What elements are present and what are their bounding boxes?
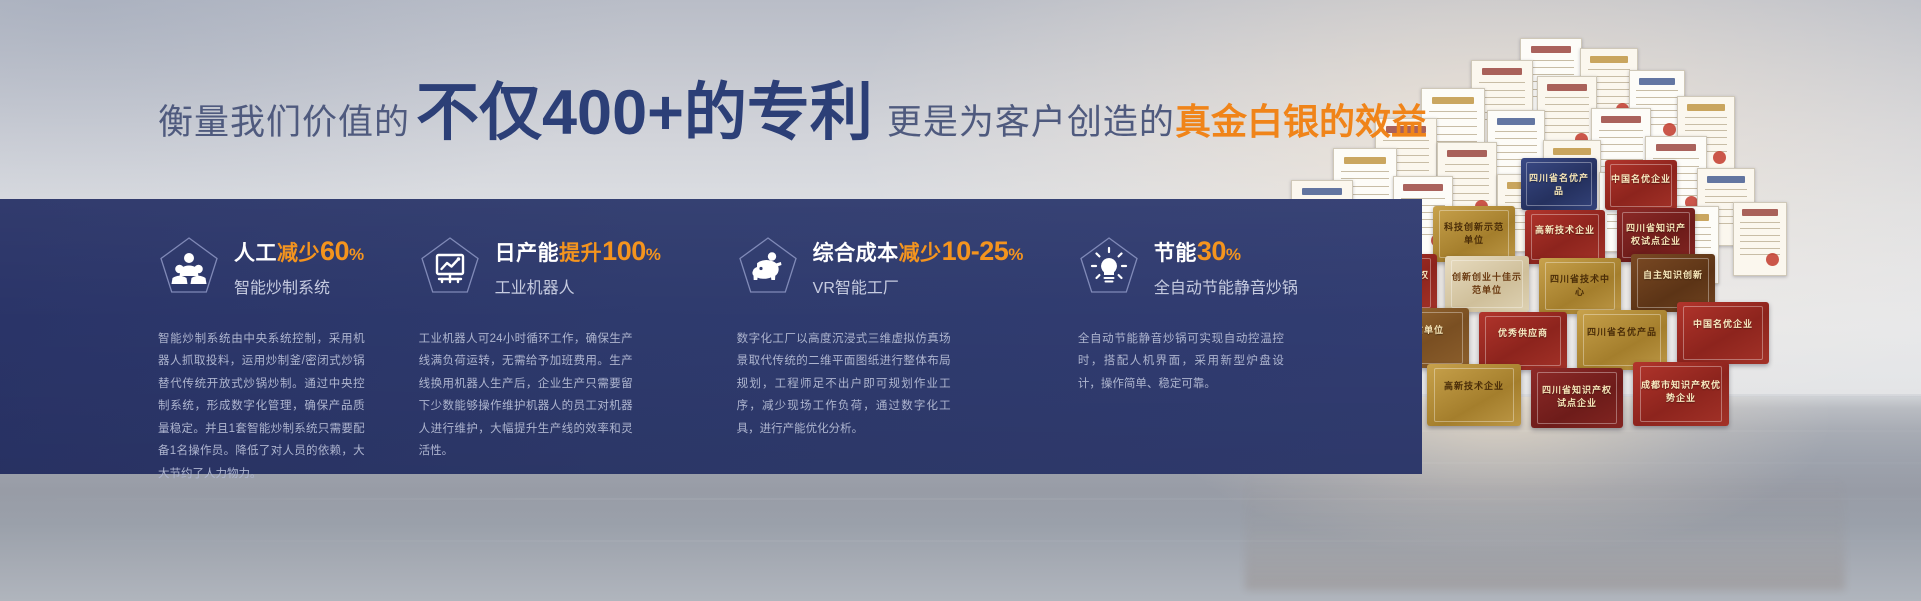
feature-title: 人工减少60% (234, 237, 365, 267)
feature-item: 综合成本减少10-25% VR智能工厂 数字化工厂以高度沉浸式三维虚拟仿真场景取… (709, 199, 1050, 474)
page-title: 衡量我们价值的 不仅400+的专利 更是为客户创造的 真金白银的效益 (158, 82, 1427, 145)
plaque-label: 成都市知识产权优势企业 (1641, 379, 1722, 405)
plaque-label: 中国名优企业 (1684, 318, 1761, 331)
feature-body-text: 全自动节能静音炒锅可实现自动控温控时，搭配人机界面，采用新型炉盘设计，操作简单、… (1078, 328, 1284, 395)
plaque-label: 四川省技术中心 (1546, 273, 1615, 299)
feature-title-accent: 减少 (899, 242, 942, 265)
feature-title: 节能30% (1154, 237, 1298, 267)
lightbulb-icon (1078, 236, 1140, 300)
chart-board-icon (419, 236, 481, 300)
plaque-label: 四川省知识产权试点企业 (1538, 384, 1615, 410)
feature-header: 综合成本减少10-25% VR智能工厂 (737, 234, 1024, 300)
feature-header: 日产能提升100% 工业机器人 (419, 234, 683, 300)
plaque-label: 中国名优企业 (1611, 173, 1672, 186)
plaque-label: 科技创新示范单位 (1440, 221, 1509, 247)
feature-title-number: 60 (320, 236, 349, 266)
feature-titles: 日产能提升100% 工业机器人 (495, 234, 662, 298)
feature-title-prefix: 日产能 (495, 242, 560, 265)
award-plaque: 四川省技术中心 (1539, 258, 1621, 314)
feature-title-prefix: 综合成本 (813, 242, 899, 265)
plaque-label: 优秀供应商 (1486, 327, 1560, 340)
award-plaque: 创新创业十佳示范单位 (1445, 256, 1529, 312)
feature-title-prefix: 节能 (1154, 242, 1197, 265)
plaque-label: 高新技术企业 (1531, 224, 1598, 237)
headline-prefix: 衡量我们价值的 (158, 94, 410, 145)
feature-title-unit: % (1008, 245, 1024, 264)
feature-title-number: 30 (1197, 236, 1226, 266)
feature-title-unit: % (1226, 245, 1242, 264)
feature-header: 节能30% 全自动节能静音炒锅 (1078, 234, 1354, 300)
feature-body-text: 智能炒制系统由中央系统控制，采用机器人抓取投料，运用炒制釜/密闭式炒锅替代传统开… (158, 328, 365, 485)
people-group-icon (158, 236, 220, 300)
plaque-label: 四川省知识产权试点企业 (1623, 222, 1689, 248)
feature-title-number: 10-25 (942, 236, 1009, 266)
feature-item: 日产能提升100% 工业机器人 工业机器人可24小时循环工作，确保生产线满负荷运… (391, 199, 709, 474)
award-plaque: 四川省名优产品 (1577, 310, 1667, 370)
award-plaque: 四川省名优产品 (1521, 158, 1597, 210)
headline-highlight: 不仅400+的专利 (416, 82, 873, 145)
feature-titles: 节能30% 全自动节能静音炒锅 (1154, 234, 1298, 298)
plaque-label: 四川省名优产品 (1527, 172, 1591, 198)
feature-titles: 人工减少60% 智能炒制系统 (234, 234, 365, 298)
feature-title: 综合成本减少10-25% (813, 237, 1024, 267)
headline-middle: 更是为客户创造的 (887, 94, 1175, 145)
feature-body-text: 数字化工厂以高度沉浸式三维虚拟仿真场景取代传统的二维平面图纸进行整体布局规划，工… (737, 328, 951, 440)
feature-subtitle: 全自动节能静音炒锅 (1154, 274, 1298, 298)
banner-root: 四川省名优产品中国名优企业科技创新示范单位高新技术企业四川省知识产权试点企业成都… (0, 0, 1921, 601)
feature-titles: 综合成本减少10-25% VR智能工厂 (813, 234, 1024, 298)
feature-subtitle: VR智能工厂 (813, 274, 1024, 298)
feature-subtitle: 智能炒制系统 (234, 274, 365, 298)
plaque-label: 自主知识创新 (1638, 269, 1709, 282)
feature-title-number: 100 (602, 236, 646, 266)
plaque-label: 高新技术企业 (1435, 380, 1514, 393)
award-plaque: 高新技术企业 (1525, 210, 1605, 264)
feature-header: 人工减少60% 智能炒制系统 (158, 234, 365, 300)
feature-subtitle: 工业机器人 (495, 274, 662, 298)
feature-body-text: 工业机器人可24小时循环工作，确保生产线满负荷运转，无需给予加班费用。生产线换用… (419, 328, 633, 463)
plaque-label: 创新创业十佳示范单位 (1452, 271, 1523, 297)
feature-title: 日产能提升100% (495, 237, 662, 267)
award-plaque: 中国名优企业 (1605, 160, 1677, 210)
features-panel: 人工减少60% 智能炒制系统 智能炒制系统由中央系统控制，采用机器人抓取投料，运… (0, 199, 1422, 474)
award-plaque: 中国名优企业 (1677, 302, 1769, 364)
feature-item: 人工减少60% 智能炒制系统 智能炒制系统由中央系统控制，采用机器人抓取投料，运… (0, 199, 391, 474)
piggy-bank-icon (737, 236, 799, 300)
feature-title-accent: 减少 (277, 242, 320, 265)
feature-title-unit: % (349, 245, 365, 264)
feature-title-accent: 提升 (559, 242, 602, 265)
certificate-paper (1733, 202, 1787, 276)
plaque-label: 四川省名优产品 (1584, 326, 1660, 339)
award-plaque: 高新技术企业 (1427, 364, 1521, 426)
award-plaque: 四川省知识产权试点企业 (1531, 368, 1623, 428)
water-streak (0, 540, 1921, 542)
award-plaque: 成都市知识产权优势企业 (1633, 362, 1729, 426)
feature-item: 节能30% 全自动节能静音炒锅 全自动节能静音炒锅可实现自动控温控时，搭配人机界… (1050, 199, 1380, 474)
award-plaque: 优秀供应商 (1479, 312, 1567, 370)
award-plaque: 科技创新示范单位 (1433, 206, 1515, 262)
feature-title-unit: % (646, 245, 662, 264)
feature-title-prefix: 人工 (234, 242, 277, 265)
headline-suffix: 真金白银的效益 (1175, 93, 1427, 145)
feature-list: 人工减少60% 智能炒制系统 智能炒制系统由中央系统控制，采用机器人抓取投料，运… (0, 199, 1422, 474)
